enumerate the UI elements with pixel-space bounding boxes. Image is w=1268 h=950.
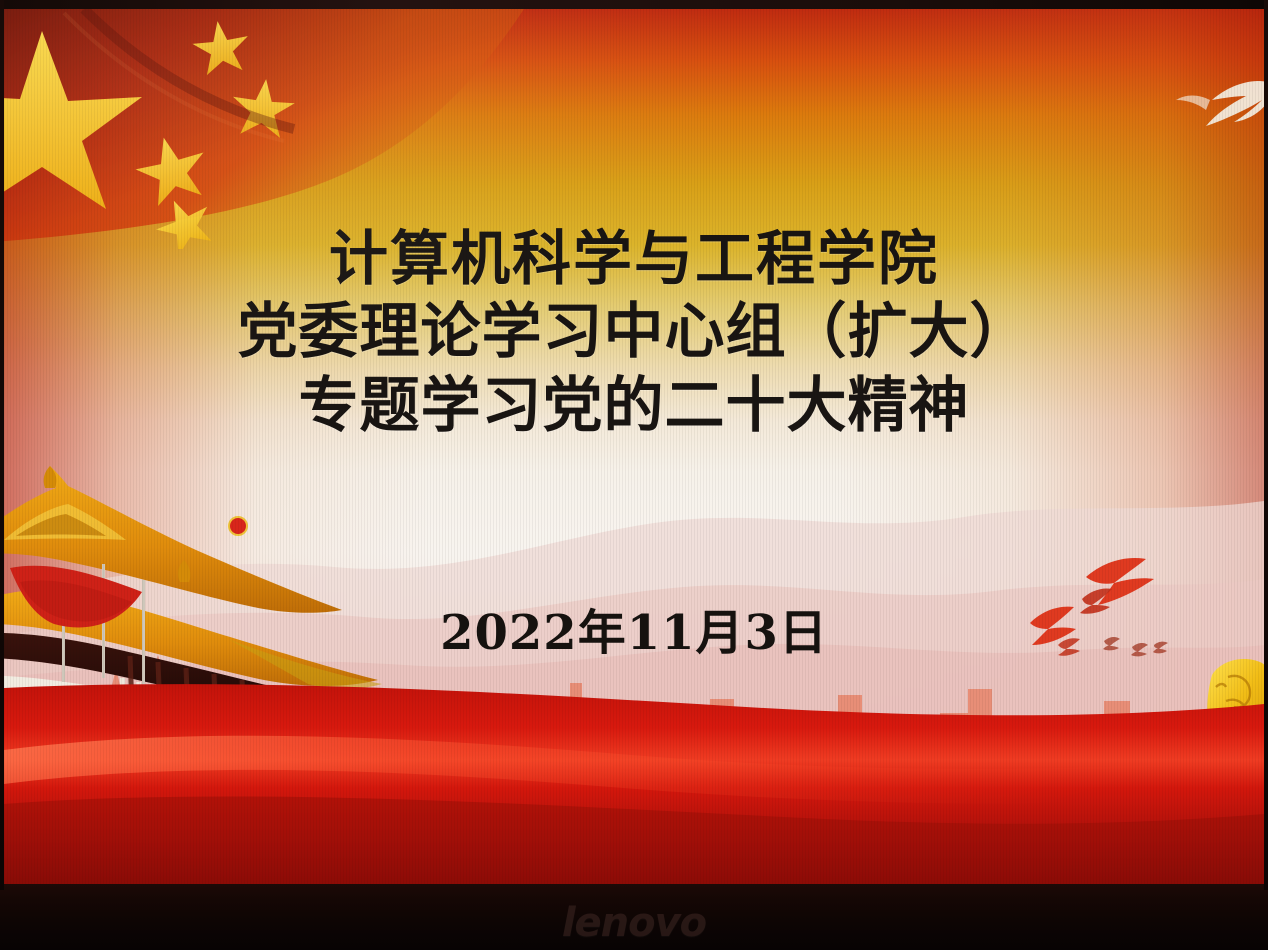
chinese-flag-graphic	[4, 9, 584, 249]
slide-title-block: 计算机科学与工程学院 党委理论学习中心组（扩大） 专题学习党的二十大精神	[4, 223, 1264, 443]
bezel-top	[0, 0, 1268, 9]
title-line-3: 专题学习党的二十大精神	[4, 369, 1264, 443]
title-line-2: 党委理论学习中心组（扩大）	[4, 295, 1264, 369]
lenovo-brand-logo: lenovo	[0, 900, 1268, 946]
slide-date: 2022年11月3日	[4, 593, 1264, 663]
lenovo-monitor: 中华人民共和国万岁 世界人民大团结万岁	[0, 0, 1268, 950]
monitor-screen: 中华人民共和国万岁 世界人民大团结万岁	[4, 9, 1264, 884]
red-ribbon-graphic	[4, 654, 1264, 884]
bezel-right	[1264, 0, 1268, 890]
white-dove-icon	[1150, 64, 1264, 154]
title-line-1: 计算机科学与工程学院	[4, 223, 1264, 295]
bezel-left	[0, 0, 4, 890]
